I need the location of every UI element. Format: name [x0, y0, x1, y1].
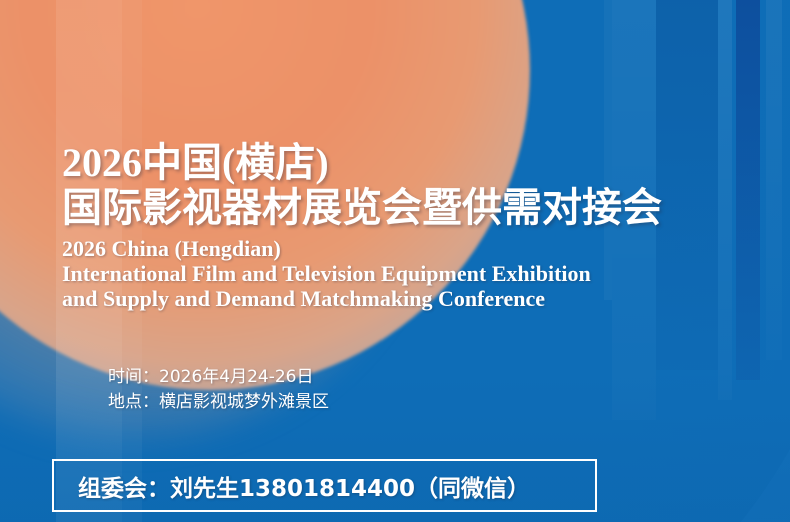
poster-content: 2026中国(横店) 国际影视器材展览会暨供需对接会 2026 China (H…	[0, 0, 790, 522]
contact-box: 组委会：刘先生13801814400（同微信）	[52, 459, 597, 512]
event-venue: 地点：横店影视城梦外滩景区	[108, 391, 329, 413]
title-english-line-1: 2026 China (Hengdian)	[62, 236, 281, 261]
title-english-line-3: and Supply and Demand Matchmaking Confer…	[62, 286, 545, 311]
title-english-line-2: International Film and Television Equipm…	[62, 261, 591, 286]
event-date: 时间：2026年4月24-26日	[108, 366, 313, 388]
title-chinese-line-1: 2026中国(横店)	[62, 141, 329, 185]
exhibition-poster: 2026中国(横店) 国际影视器材展览会暨供需对接会 2026 China (H…	[0, 0, 790, 522]
contact-organizer-text: 组委会：刘先生13801814400（同微信）	[78, 469, 530, 503]
title-chinese-line-2: 国际影视器材展览会暨供需对接会	[62, 186, 662, 230]
